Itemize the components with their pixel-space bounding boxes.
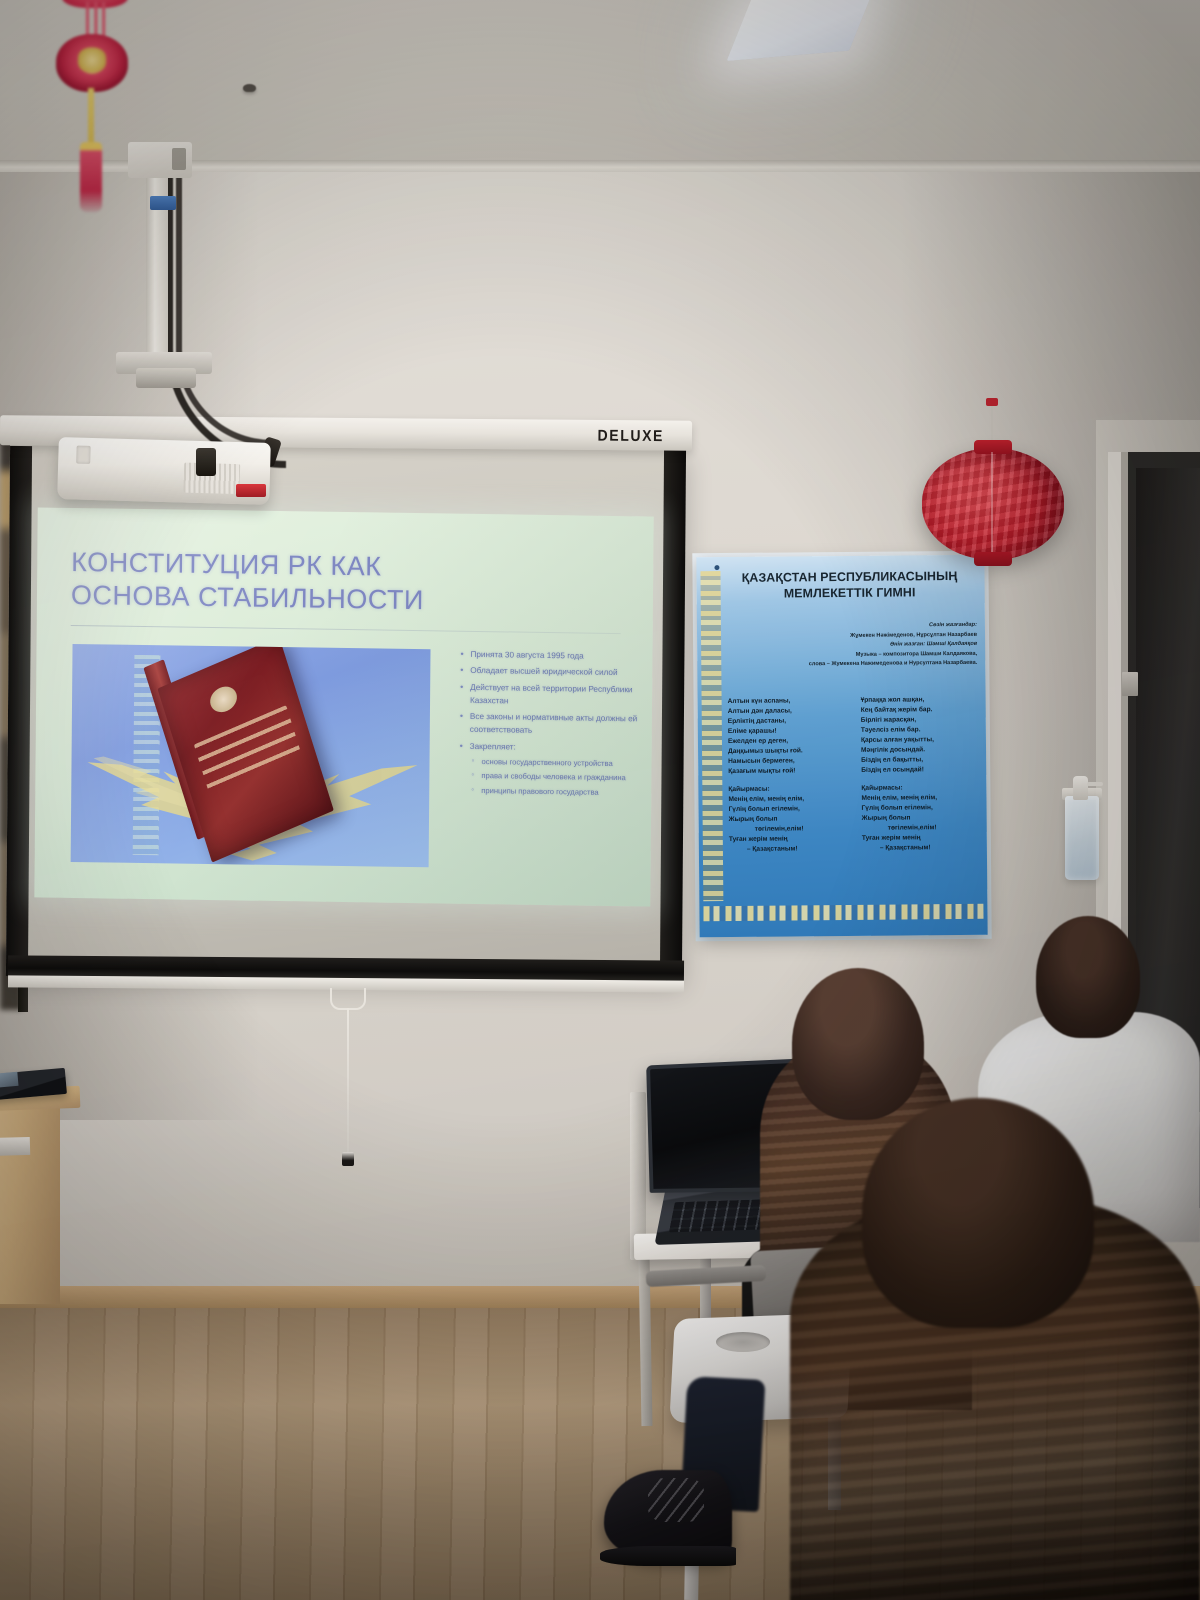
slide-bullet: Принята 30 августа 1995 года (460, 648, 642, 664)
slide-bullet: Обладает высшей юридической силой (460, 664, 642, 680)
poster-title: ҚАЗАҚСТАН РЕСПУБЛИКАСЫНЫҢ МЕМЛЕКЕТТІК ГИ… (724, 569, 974, 603)
lantern-bottom-cap (974, 552, 1012, 566)
slide-constitution-image (71, 644, 431, 867)
knot-medallion (56, 34, 128, 92)
projected-slide: КОНСТИТУЦИЯ РК КАК ОСНОВА СТАБИЛЬНОСТИ П… (34, 507, 653, 906)
slide-sub-bullet: основы государственного устройства (471, 756, 641, 771)
screen-border-left (6, 446, 32, 976)
ceiling-fixture-dot (243, 84, 256, 92)
poster-side-ornament (700, 571, 723, 901)
knot-cord (88, 88, 94, 148)
projector-mount-arm (136, 368, 196, 388)
slide-title-line2: ОСНОВА СТАБИЛЬНОСТИ (71, 579, 501, 618)
sanitizer-spout (1087, 782, 1103, 786)
poster-lyrics: Алтын күн аспаны, Алтын дән даласы, Ерлі… (728, 695, 981, 855)
red-paper-lantern (922, 448, 1064, 560)
student-right-head (1036, 916, 1140, 1038)
boot-sole (600, 1546, 736, 1566)
slide-bullet: Действует на всей территории Республики … (460, 680, 642, 709)
verse-line: Қазағым мықты ғой! (728, 766, 847, 777)
slide-title: КОНСТИТУЦИЯ РК КАК ОСНОВА СТАБИЛЬНОСТИ (71, 546, 502, 618)
verse-line: Біздің ел осындай! (861, 765, 980, 776)
slide-sub-bullet: права и свободы человека и гражданина (471, 770, 641, 785)
student-center-head (792, 968, 924, 1120)
lantern-seam (991, 452, 993, 556)
wooden-lectern-body (0, 1104, 60, 1304)
slide-bullet: Все законы и нормативные акты должны ей … (460, 710, 642, 739)
slide-title-rule (71, 625, 621, 634)
boot-laces (648, 1478, 704, 1522)
lectern-shelf (0, 1137, 30, 1157)
screen-border-right (660, 446, 686, 976)
screen-pull-handle[interactable] (330, 988, 366, 1010)
anthem-verse-left: Алтын күн аспаны, Алтын дән даласы, Ерлі… (728, 696, 848, 855)
poster-title-line1: ҚАЗАҚСТАН РЕСПУБЛИКАСЫНЫҢ (724, 569, 974, 587)
anthem-verse-right: Ұрпаққа жол ашқан, Кең байтақ жерім бар.… (861, 695, 981, 854)
slide-sub-bullet: принципы правового государства (471, 784, 641, 799)
chorus-line: – Қазақстаным! (729, 844, 848, 855)
classroom-photo: DELUXE КОНСТИТУЦИЯ РК КАК ОСНОВА СТАБИЛЬ… (0, 0, 1200, 1600)
chorus-line: – Қазақстаным! (862, 843, 981, 854)
kazakhstan-anthem-poster: ҚАЗАҚСТАН РЕСПУБЛИКАСЫНЫҢ МЕМЛЕКЕТТІК ГИ… (696, 555, 987, 937)
poster-pin (714, 565, 719, 570)
slide-sub-bullet-list: основы государственного устройства права… (459, 756, 641, 800)
sanitizer-pump[interactable] (1073, 776, 1088, 800)
poster-title-line2: МЕМЛЕКЕТТІК ГИМНІ (725, 585, 975, 603)
chair-cup-holder (716, 1332, 770, 1352)
lantern-top-cap (974, 440, 1012, 454)
slide-bullet: Закрепляет: (460, 739, 642, 755)
knot-tassel (80, 142, 102, 212)
lantern-ceiling-hook (986, 398, 998, 406)
poster-credits: Сөзін жазғандар: Жұмекен Нәжімеденов, Нұ… (731, 621, 977, 671)
screen-pull-cord[interactable] (347, 1008, 349, 1158)
projector-mount-clamp (150, 196, 176, 210)
foreground-student-head (862, 1098, 1094, 1328)
projector-cable-port (196, 448, 216, 476)
door-hinge (1122, 672, 1138, 696)
credits-line: слова – Жумекена Нажимеденова и Нурсулта… (731, 659, 977, 671)
poster-bottom-ornament (703, 904, 983, 921)
deluxe-brand-label: DELUXE (598, 426, 665, 444)
wall-hand-sanitizer-dispenser[interactable] (1065, 796, 1099, 880)
chinese-knot-ornament (40, 0, 150, 222)
slide-bullet-list: Принята 30 августа 1995 года Обладает вы… (459, 648, 642, 802)
screen-cord-tip[interactable] (342, 1152, 354, 1166)
projector-red-connector (236, 484, 266, 497)
